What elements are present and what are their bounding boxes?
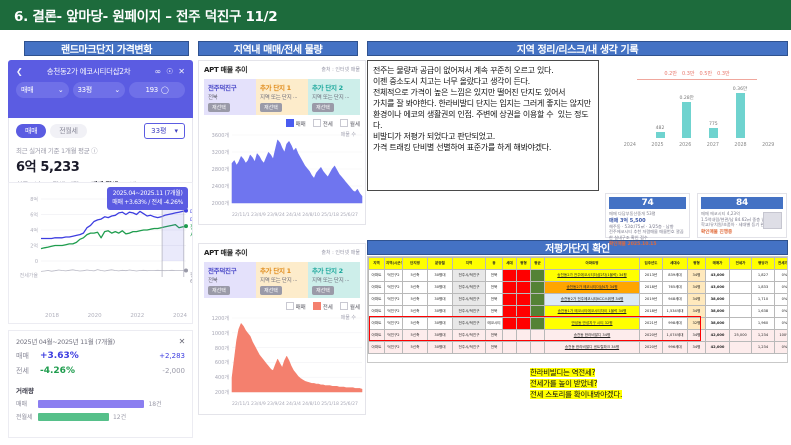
- vchart-head: 출처 : 인터넷 매물 APT 매물 추이: [204, 65, 360, 75]
- table-cell: [517, 306, 531, 318]
- line-plot-xticks: 2018 2020 2022 2024: [45, 313, 187, 319]
- table-cell: [503, 342, 517, 354]
- table-cell: 전주시/덕진구: [453, 318, 486, 330]
- table-cell: 덕진구2: [385, 318, 403, 330]
- plot-ylabel-1: 매물 수: [341, 131, 356, 138]
- table-cell: [503, 330, 517, 342]
- table-cell: 2020년: [640, 330, 663, 342]
- table-cell: 34평: [688, 306, 706, 318]
- table-cell: 5신축: [403, 294, 428, 306]
- table-column-header[interactable]: 지역: [369, 258, 385, 270]
- tab-sale[interactable]: 매매: [16, 124, 46, 138]
- svg-text:전세가율: 전세가율: [20, 272, 39, 279]
- table-column-header[interactable]: 동: [486, 258, 503, 270]
- plot-wrapper-2: 매물 수 1200개1000개800개600개400개200개 22/11/12…: [204, 314, 360, 406]
- legend-jeonse[interactable]: 전세: [313, 302, 333, 311]
- table-cell: 38,000: [706, 306, 730, 318]
- table-column-header[interactable]: 세대: [503, 258, 517, 270]
- share-icon[interactable]: ∞: [154, 67, 161, 76]
- complex-name: 송천동2가 에코시티더샵2차: [28, 66, 150, 77]
- supply-xtick: 2029: [756, 143, 780, 148]
- xtick: 23/4/9: [251, 402, 266, 407]
- back-arrow-icon[interactable]: ❮: [16, 67, 23, 76]
- segment-reselect-button[interactable]: 재선택: [208, 286, 230, 295]
- table-cell: 전북: [486, 294, 503, 306]
- xtick: 25/6/27: [340, 402, 358, 407]
- svg-text:6억: 6억: [30, 212, 38, 219]
- table-cell: 25,000: [730, 330, 752, 342]
- supply-plot: 4820.28만7750.36만 20242025202620272028202…: [610, 86, 784, 148]
- series-label: 평균 63.3%: [190, 271, 193, 285]
- xtick: 24/3/4: [286, 402, 301, 407]
- table-cell: [503, 318, 517, 330]
- table-cell: [730, 318, 752, 330]
- volume-bar-count: 18건: [148, 399, 161, 408]
- table-body: 아파트덕진구25신축30평대전주시/덕진구전북송천동2가 전주에코시티더샵2차(…: [369, 270, 789, 354]
- svg-text:4억: 4억: [30, 227, 38, 234]
- filter-count-chip[interactable]: 193 ◯: [129, 82, 185, 98]
- table-cell: 아파트: [369, 306, 385, 318]
- table-cell: 32평: [688, 318, 706, 330]
- table-cell: [517, 282, 531, 294]
- table-row[interactable]: 아파트덕진구25신축30평대전주시/덕진구전북송천동2가 전주에코시티더샵2차(…: [369, 270, 789, 282]
- plot-yticks-1: 3600개3200개2800개2400개2000개: [204, 131, 230, 205]
- table-cell: 전북: [486, 270, 503, 282]
- table-header-row: 지역지역(시군구)단지명분양월지역동세대평형평균아파트명입주년도세대수평형매매가…: [369, 258, 789, 270]
- memo-line-2: 전세가를 높이 받았네?: [530, 379, 597, 388]
- table-cell: 30평대: [428, 270, 453, 282]
- supply-bar-chart: 0.2만 0.3만 0.5만 0.3만 4820.28만7750.36만 202…: [606, 60, 788, 182]
- listing-line4: 전주에코시티 추천 저렴매물 매물번호 깔끔한 실내구조 확인 접수: [609, 229, 686, 240]
- table-row[interactable]: 아파트덕진구25신축30평대전주시/덕진구전북송천동2가 전주에코시티KCC스위…: [369, 294, 789, 306]
- table-column-header[interactable]: 지역: [453, 258, 486, 270]
- detail-row-delta: +2,283: [159, 352, 185, 360]
- xtick: 23/4/9: [251, 213, 266, 218]
- legend-sale[interactable]: 매매: [286, 119, 306, 128]
- table-cell: 1,638: [752, 306, 775, 318]
- volume-bar-label: 매매: [16, 399, 34, 408]
- segment-reselect-button[interactable]: 재선택: [260, 286, 282, 295]
- period-detail-card: 2025년 04월~2025년 11월 (7개월) ✕ 매매 +3.63% +2…: [8, 330, 193, 438]
- supply-bar-column: 0.36만: [729, 86, 752, 138]
- listing-thumbnail: [763, 212, 782, 229]
- table-cell: [503, 270, 517, 282]
- series-label: 매매: [190, 208, 193, 224]
- table-cell: [531, 270, 545, 282]
- table-cell: [503, 306, 517, 318]
- xtick: 24/3/4: [286, 213, 301, 218]
- price-trend-chart: 2025.04~2025.11 (7개월) 매매 +3.63% / 전세 -4.…: [8, 182, 193, 324]
- table-cell: [730, 342, 752, 354]
- ytick: 600개: [215, 359, 229, 366]
- ytick: 800개: [215, 345, 229, 352]
- segment-name: 추가 단지 2: [312, 265, 356, 275]
- memo-line-3: 전세 스토리를 확이내봐야겠다.: [530, 390, 622, 399]
- table-column-header[interactable]: 전세가: [730, 258, 752, 270]
- table-cell: 송천동 한라비발디 센트럴파크 34평: [545, 342, 640, 354]
- chart-legend-1: 매매 전세 월세: [204, 119, 360, 128]
- xtick: 2018: [45, 313, 59, 319]
- region-segments: 전주덕진구 전북 재선택 추가 단지 1 지역 또는 단지 ··· 재선택 추가…: [204, 262, 360, 298]
- tooltip-values: 매매 +3.63% / 전세 -4.26%: [112, 199, 183, 208]
- detail-row-pct: +3.63%: [40, 351, 79, 361]
- table-cell: 0%: [775, 318, 789, 330]
- table-cell: 송천동1가 에코시티에코시티자이 1블럭 34평: [545, 306, 640, 318]
- supply-bar-value: 482: [656, 126, 665, 131]
- app-filter-chips: 매매 ⌄ 33평 ⌄ 193 ◯: [8, 80, 193, 105]
- table-cell: 34평: [688, 270, 706, 282]
- table-cell: [531, 318, 545, 330]
- legend-jeonse[interactable]: 전세: [313, 119, 333, 128]
- table-cell: 30평대: [428, 318, 453, 330]
- table-cell: 전주시/덕진구: [453, 270, 486, 282]
- table-cell: 2021년: [640, 318, 663, 330]
- table-cell: 5신축: [403, 282, 428, 294]
- table-row[interactable]: 아파트덕진구25신축30평대전주시/덕진구전북송천동2가 에코시티더샵4차 34…: [369, 282, 789, 294]
- supply-xtick: 2028: [729, 143, 753, 148]
- table-cell: 2018년: [640, 282, 663, 294]
- xtick: 25/1/18: [321, 213, 339, 218]
- undervalued-complex-table[interactable]: 지역지역(시군구)단지명분양월지역동세대평형평균아파트명입주년도세대수평형매매가…: [367, 256, 788, 363]
- supply-bar-value: 775: [709, 122, 718, 127]
- table-cell: [517, 270, 531, 282]
- ytick: 400개: [215, 374, 229, 381]
- table-cell: 34평: [688, 282, 706, 294]
- table-cell: 2019년: [640, 294, 663, 306]
- close-icon[interactable]: ✕: [178, 67, 185, 76]
- table-cell: 아파트: [369, 270, 385, 282]
- region-segment-extra1[interactable]: 추가 단지 1 지역 또는 단지 ··· 재선택: [256, 262, 308, 298]
- xtick: 24/8/10: [302, 402, 320, 407]
- vchart-title: APT 매물 추이: [204, 249, 247, 257]
- volume-bar: [38, 413, 109, 421]
- vchart-source: 출처 : 인터넷 매물: [321, 66, 360, 73]
- table-cell: [531, 294, 545, 306]
- segment-sub: 지역 또는 단지 ···: [312, 276, 356, 284]
- table-cell: 839세대: [663, 270, 688, 282]
- supply-bar-column: 0.28만: [675, 86, 698, 138]
- average-price: 6억 5,233: [16, 156, 185, 175]
- table-cell: 34평: [688, 342, 706, 354]
- ytick: 3200개: [212, 149, 229, 156]
- xtick: 25/1/18: [321, 402, 339, 407]
- filter-type-chip[interactable]: 매매 ⌄: [16, 82, 69, 98]
- chart-tooltip: 2025.04~2025.11 (7개월) 매매 +3.63% / 전세 -4.…: [107, 187, 188, 210]
- table-column-header[interactable]: 단지명: [403, 258, 428, 270]
- section-header-notes: 지역 정리/리스크/내 생각 기록: [367, 41, 788, 56]
- supply-xtick: 2024: [618, 143, 642, 148]
- table-cell: 전주시/덕진구: [453, 330, 486, 342]
- plot-xticks-2: 22/11/123/4/923/9/2424/3/424/8/1025/1/18…: [232, 402, 358, 407]
- region-segment-main[interactable]: 전주덕진구 전북 재선택: [204, 79, 256, 115]
- table-cell: 1,534세대: [663, 306, 688, 318]
- table-column-header[interactable]: 아파트명: [545, 258, 640, 270]
- filter-size-chip[interactable]: 33평 ⌄: [73, 82, 126, 98]
- xtick: 2024: [173, 313, 187, 319]
- volume-bar-sale: 매매 18건: [16, 399, 185, 408]
- ytick: 200개: [215, 389, 229, 396]
- table-cell: 1,074세대: [663, 330, 688, 342]
- supply-bar-value: 0.36만: [733, 86, 747, 92]
- table-cell: 996세대: [663, 342, 688, 354]
- table-cell: 1,960: [752, 318, 775, 330]
- listing-line2: 매매 3억 5,500: [609, 217, 686, 224]
- table-cell: 30평대: [428, 282, 453, 294]
- chevron-down-icon: ▾: [174, 127, 178, 135]
- segment-name: 추가 단지 1: [260, 82, 304, 92]
- table-cell: 아파트: [369, 330, 385, 342]
- segment-reselect-button[interactable]: 재선택: [260, 103, 282, 112]
- plot-yticks-2: 1200개1000개800개600개400개200개: [204, 314, 230, 394]
- table-cell: 아파트: [369, 294, 385, 306]
- segment-name: 추가 단지 1: [260, 265, 304, 275]
- segment-reselect-button[interactable]: 재선택: [208, 103, 230, 112]
- segment-sub: 지역 또는 단지 ···: [260, 93, 304, 101]
- table-column-header[interactable]: 평당가: [752, 258, 775, 270]
- listing-card-84[interactable]: 84 매매 에코시티 4,23억 1.5억내림/현관/남 84.62㎡ 중층 남…: [697, 193, 787, 238]
- xtick: 23/9/24: [267, 213, 285, 218]
- table-row[interactable]: 아파트덕진구25신축30평대전주시/덕진구전북송천동 한라비발디 34평2020…: [369, 330, 789, 342]
- supply-top-label: 0.2만: [664, 70, 677, 77]
- table-cell: [503, 282, 517, 294]
- table-cell: 전북: [486, 342, 503, 354]
- bottom-memo: 한라비빌디는 역전세? 전세가를 높이 받았네? 전세 스토리를 확이내봐야겠다…: [530, 368, 705, 401]
- table-cell: 998세대: [663, 318, 688, 330]
- table-cell: 5신축: [403, 306, 428, 318]
- table-column-header[interactable]: 세대수: [663, 258, 688, 270]
- legend-sale[interactable]: 매매: [286, 302, 306, 311]
- supply-bar: [656, 132, 665, 138]
- supply-top-label: 0.5만: [700, 70, 713, 77]
- table-cell: [531, 330, 545, 342]
- table-cell: [517, 330, 531, 342]
- table-cell: 5신축: [403, 342, 428, 354]
- table-cell: 38,000: [706, 294, 730, 306]
- table-cell: 1,833: [752, 282, 775, 294]
- table-cell: 43,000: [706, 282, 730, 294]
- supply-xtick: 2027: [701, 143, 725, 148]
- listing-tag: 확인매물 진행중: [701, 229, 783, 235]
- filter-size-label: 33평: [78, 85, 92, 95]
- spreadsheet: 지역지역(시군구)단지명분양월지역동세대평형평균아파트명입주년도세대수평형매매가…: [368, 257, 788, 354]
- table-cell: 전북: [486, 282, 503, 294]
- close-icon[interactable]: ✕: [179, 337, 185, 346]
- ytick: 1200개: [212, 315, 229, 322]
- listing-tag: 확인매물 2025.10.15: [609, 241, 686, 247]
- table-cell: [531, 282, 545, 294]
- listing-badge: 84: [701, 197, 783, 209]
- table-cell: 1,827: [752, 270, 775, 282]
- table-cell: 2018년: [640, 306, 663, 318]
- chart-legend-2: 매매 전세 월세: [204, 302, 360, 311]
- table-cell: 2020년: [640, 342, 663, 354]
- segment-name: 전주덕진구: [208, 82, 252, 92]
- ytick: 3600개: [212, 132, 229, 139]
- supply-xtick: 2025: [646, 143, 670, 148]
- ytick: 2000개: [212, 200, 229, 207]
- table-column-header[interactable]: 전세가율: [775, 258, 789, 270]
- region-segments: 전주덕진구 전북 재선택 추가 단지 1 지역 또는 단지 ··· 재선택 추가…: [204, 79, 360, 115]
- table-cell: [517, 342, 531, 354]
- table-column-header[interactable]: 평형: [688, 258, 706, 270]
- detail-row-label: 매매: [16, 351, 40, 361]
- supply-top-label: 0.3만: [682, 70, 695, 77]
- table-column-header[interactable]: 매매가: [706, 258, 730, 270]
- segment-name: 전주덕진구: [208, 265, 252, 275]
- detail-period: 2025년 04월~2025년 11월 (7개월): [16, 336, 115, 346]
- table-cell: [503, 294, 517, 306]
- table-cell: 948세대: [663, 294, 688, 306]
- segment-reselect-button[interactable]: 재선택: [312, 103, 334, 112]
- bell-icon[interactable]: ☉: [166, 67, 173, 76]
- listing-badge: 74: [609, 197, 686, 209]
- supply-bar: [709, 128, 718, 138]
- table-cell: 0%: [775, 342, 789, 354]
- xtick: 24/8/10: [302, 213, 320, 218]
- volume-title: 거래량: [16, 385, 185, 395]
- table-cell: 아파트: [369, 282, 385, 294]
- table-cell: [730, 306, 752, 318]
- supply-bar-column: [755, 86, 778, 138]
- table-cell: 100%: [775, 330, 789, 342]
- detail-row-sale: 매매 +3.63% +2,283: [16, 351, 185, 361]
- table-cell: 송천동2가 전주에코시티더샵2차(1블럭) 34평: [545, 270, 640, 282]
- table-cell: 42,000: [706, 330, 730, 342]
- series-label: 전세: [190, 223, 193, 239]
- table-cell: [531, 306, 545, 318]
- table-cell: 30평대: [428, 294, 453, 306]
- table-cell: 전북: [486, 330, 503, 342]
- filter-type-label: 매매: [21, 85, 33, 95]
- segment-sub: 지역 또는 단지 ···: [260, 276, 304, 284]
- table-cell: 1,234: [752, 342, 775, 354]
- supply-bar: [682, 102, 691, 138]
- table-cell: [517, 318, 531, 330]
- detail-row-pct: -4.26%: [40, 366, 75, 376]
- slide-page: 6. 결론- 앞마당- 원페이지 – 전주 덕진구 11/2 랜드마크단지 가격…: [0, 0, 791, 445]
- table-cell: 34평: [688, 330, 706, 342]
- volume-bar-label: 전월세: [16, 412, 34, 421]
- tab-jeonse[interactable]: 전월세: [50, 124, 86, 138]
- detail-row-label: 전세: [16, 366, 40, 376]
- table-cell: 덕진구2: [385, 270, 403, 282]
- table-cell: 34평: [688, 294, 706, 306]
- table-row[interactable]: 아파트덕진구25신축30평대전주시/덕진구에코시티만성동 만성지구 시티 32평…: [369, 318, 789, 330]
- region-segment-extra2[interactable]: 추가 단지 2 지역 또는 단지 ··· 재선택: [308, 79, 360, 115]
- legend-wolse[interactable]: 월세: [340, 302, 360, 311]
- table-cell: 전주시/덕진구: [453, 282, 486, 294]
- table-cell: [730, 294, 752, 306]
- vchart-title: APT 매물 추이: [204, 66, 247, 74]
- supply-bar-value: 0.28만: [679, 95, 693, 101]
- table-column-header[interactable]: 평형: [517, 258, 531, 270]
- app-topbar: ❮ 송천동2가 에코시티더샵2차 ∞ ☉ ✕: [8, 60, 193, 80]
- detail-row-delta: -2,000: [162, 367, 185, 375]
- table-cell: 5신축: [403, 318, 428, 330]
- table-cell: [531, 342, 545, 354]
- circle-icon: ◯: [161, 86, 169, 94]
- volume-bar-jeonse: 전월세 12건: [16, 412, 185, 421]
- table-cell: [730, 282, 752, 294]
- plot-wrapper-1: 매물 수 3600개3200개2800개2400개2000개 22/11/123…: [204, 131, 360, 217]
- table-cell: [517, 294, 531, 306]
- supply-bar-column: 775: [702, 86, 725, 138]
- table-cell: 전북: [486, 306, 503, 318]
- memo-line-1: 한라비빌디는 역전세?: [530, 368, 595, 377]
- segment-name: 추가 단지 2: [312, 82, 356, 92]
- svg-text:8억: 8억: [30, 196, 38, 203]
- segment-reselect-button[interactable]: 재선택: [312, 286, 334, 295]
- table-cell: 덕진구2: [385, 306, 403, 318]
- volume-bar: [38, 400, 144, 408]
- chevron-down-icon: ⌄: [58, 86, 64, 94]
- table-cell: 2013년: [640, 270, 663, 282]
- table-column-header[interactable]: 분양월: [428, 258, 453, 270]
- xtick: 25/6/27: [340, 213, 358, 218]
- table-row[interactable]: 아파트덕진구25신축30평대전주시/덕진구전북송천동 한라비발디 센트럴파크 3…: [369, 342, 789, 354]
- supply-xtick: 2026: [673, 143, 697, 148]
- ytick: 2800개: [212, 166, 229, 173]
- listing-card-74[interactable]: 74 매매 다담부동산중개 53평 매매 3억 5,500 해주동 · 53호/…: [605, 193, 690, 238]
- region-segment-extra1[interactable]: 추가 단지 1 지역 또는 단지 ··· 재선택: [256, 79, 308, 115]
- table-cell: [730, 270, 752, 282]
- xtick: 22/11/1: [232, 402, 250, 407]
- table-cell: 765세대: [663, 282, 688, 294]
- table-cell: 전주시/덕진구: [453, 306, 486, 318]
- xtick: 2020: [88, 313, 102, 319]
- table-cell: 아파트: [369, 318, 385, 330]
- ytick: 2400개: [212, 183, 229, 190]
- table-cell: 1,234: [752, 330, 775, 342]
- table-column-header[interactable]: 지역(시군구): [385, 258, 403, 270]
- table-cell: 송천동 한라비발디 34평: [545, 330, 640, 342]
- table-column-header[interactable]: 평균: [531, 258, 545, 270]
- segment-sub: 전북: [208, 276, 252, 284]
- region-segment-extra2[interactable]: 추가 단지 2 지역 또는 단지 ··· 재선택: [308, 262, 360, 298]
- plot-ylabel-2: 매물 수: [341, 314, 356, 321]
- table-cell: 5신축: [403, 330, 428, 342]
- table-cell: 송천동2가 전주에코시티KCC스위첸 34평: [545, 294, 640, 306]
- supply-bar-column: 482: [649, 86, 672, 138]
- volume-bar-count: 12건: [113, 412, 126, 421]
- legend-wolse[interactable]: 월세: [340, 119, 360, 128]
- slide-title: 6. 결론- 앞마당- 원페이지 – 전주 덕진구 11/2: [0, 0, 791, 30]
- table-cell: 송천동2가 에코시티더샵4차 34평: [545, 282, 640, 294]
- table-cell: 덕진구2: [385, 342, 403, 354]
- detail-period-row: 2025년 04월~2025년 11월 (7개월) ✕: [16, 336, 185, 346]
- tooltip-period: 2025.04~2025.11 (7개월): [112, 190, 183, 199]
- chevron-down-icon: ⌄: [114, 86, 120, 94]
- xtick: 2022: [130, 313, 144, 319]
- table-cell: 0%: [775, 270, 789, 282]
- supply-bars: 4820.28만7750.36만: [622, 86, 778, 138]
- apt-listing-chart-jeonse: 출처 : 인터넷 매물 APT 매물 추이 전주덕진구 전북 재선택 추가 단지…: [198, 243, 366, 415]
- region-segment-main[interactable]: 전주덕진구 전북 재선택: [204, 262, 256, 298]
- svg-text:2억: 2억: [30, 243, 38, 250]
- apt-listing-chart-sale: 출처 : 인터넷 매물 APT 매물 추이 전주덕진구 전북 재선택 추가 단지…: [198, 60, 366, 225]
- plot-xticks-1: 22/11/123/4/923/9/2424/3/424/8/1025/1/18…: [232, 213, 358, 218]
- xtick: 22/11/1: [232, 213, 250, 218]
- table-cell: 0%: [775, 294, 789, 306]
- size-select[interactable]: 33평 ▾: [144, 123, 185, 139]
- table-cell: 덕진구2: [385, 294, 403, 306]
- table-cell: 5신축: [403, 270, 428, 282]
- size-select-value: 33평: [151, 126, 166, 136]
- segment-sub: 지역 또는 단지 ···: [312, 93, 356, 101]
- table-column-header[interactable]: 입주년도: [640, 258, 663, 270]
- table-row[interactable]: 아파트덕진구25신축30평대전주시/덕진구전북송천동1가 에코시티에코시티자이 …: [369, 306, 789, 318]
- table-cell: 덕진구2: [385, 330, 403, 342]
